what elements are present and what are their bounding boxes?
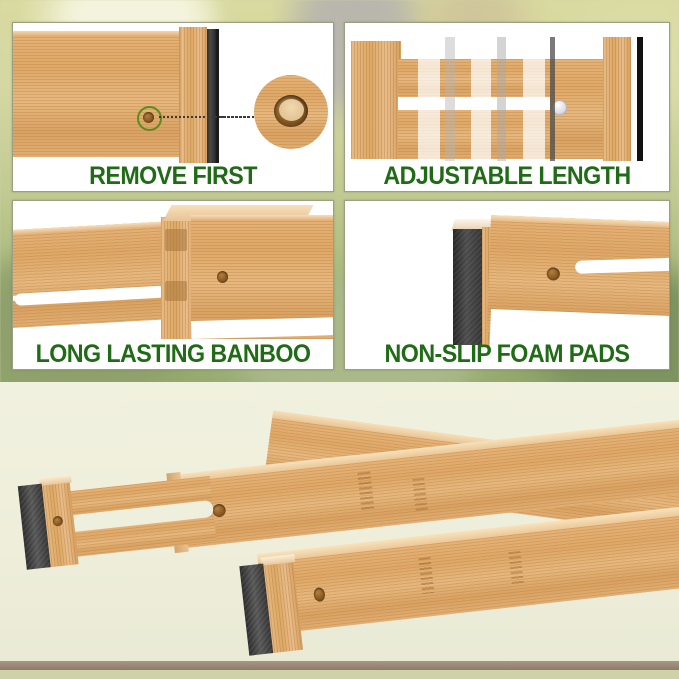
callout-hole-insert — [279, 99, 304, 121]
product-collage: REMOVE FIRST — [0, 0, 679, 679]
right-board-pin-hole — [217, 271, 228, 283]
right-board-lower-cut — [191, 317, 333, 339]
adjust-right-block — [603, 37, 631, 161]
end-block-edge-highlight — [179, 27, 183, 163]
panel-non-slip-foam-pads: NON-SLIP FOAM PADS — [344, 200, 670, 370]
panel-caption-remove-first: REMOVE FIRST — [24, 164, 322, 189]
foam-pad-strip — [207, 29, 216, 163]
end-block-notch-bottom — [165, 281, 187, 301]
hero-floor-strip — [0, 661, 679, 670]
hero-front-end-cap — [17, 474, 84, 570]
product-hero-photo — [0, 382, 679, 670]
hero-second-end-cap — [239, 554, 309, 656]
ghost-position-4 — [497, 37, 506, 161]
magnified-hole-callout — [254, 75, 328, 149]
ghost-position-2 — [445, 37, 455, 161]
ghost-divider-line — [550, 37, 555, 161]
panel-remove-first: REMOVE FIRST — [12, 22, 334, 192]
panel-caption-adjustable-length: ADJUSTABLE LENGTH — [356, 164, 657, 189]
panel-long-lasting-bamboo: LONG LASTING BANBOO — [12, 200, 334, 370]
divider-end-block — [181, 27, 207, 163]
ghost-position-3 — [471, 37, 491, 161]
ghost-position-5 — [523, 37, 545, 161]
panel-caption-long-lasting-bamboo: LONG LASTING BANBOO — [24, 342, 322, 367]
end-block-notch-top — [165, 229, 187, 251]
foam-pad-shadow — [216, 29, 219, 163]
bamboo-board-top-bevel — [13, 31, 185, 35]
adjust-left-block — [351, 41, 401, 159]
leader-line-right — [221, 116, 257, 118]
ghost-position-1 — [418, 37, 440, 161]
panel-adjustable-length: ADJUSTABLE LENGTH — [344, 22, 670, 192]
foam-pad-face — [453, 229, 483, 345]
highlight-ring-icon — [137, 106, 162, 131]
bamboo-board-face — [13, 31, 185, 157]
adjust-foam-bar — [637, 37, 643, 161]
panel-caption-non-slip-foam-pads: NON-SLIP FOAM PADS — [356, 342, 657, 367]
